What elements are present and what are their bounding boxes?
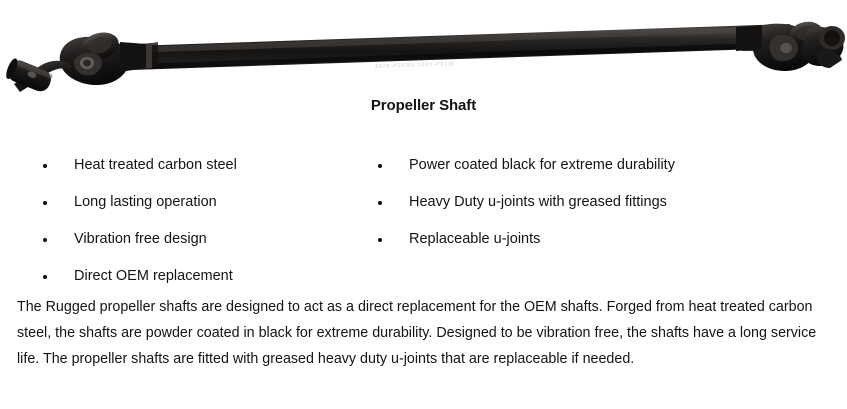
left-u-joint bbox=[4, 28, 146, 94]
feature-label: Long lasting operation bbox=[38, 184, 217, 221]
list-item: Heat treated carbon steel bbox=[38, 147, 378, 184]
list-item: Long lasting operation bbox=[38, 184, 378, 221]
bullet-icon bbox=[43, 201, 47, 205]
bullet-icon bbox=[378, 201, 382, 205]
propeller-shaft-illustration: 4378-PSPRS-100X-P01/B bbox=[0, 0, 847, 100]
svg-text:4378-PSPRS-100X-P01/B: 4378-PSPRS-100X-P01/B bbox=[375, 61, 455, 70]
feature-column-right: Power coated black for extreme durabilit… bbox=[373, 147, 823, 258]
page-title: Propeller Shaft bbox=[0, 97, 847, 114]
bullet-icon bbox=[43, 238, 47, 242]
bullet-icon bbox=[43, 164, 47, 168]
bullet-icon bbox=[43, 275, 47, 279]
list-item: Vibration free design bbox=[38, 221, 378, 258]
right-u-joint bbox=[736, 19, 845, 71]
bullet-icon bbox=[378, 238, 382, 242]
feature-column-left: Heat treated carbon steel Long lasting o… bbox=[38, 147, 378, 295]
list-item: Direct OEM replacement bbox=[38, 258, 378, 295]
feature-label: Heavy Duty u-joints with greased fitting… bbox=[373, 184, 667, 221]
product-image: 4378-PSPRS-100X-P01/B bbox=[0, 0, 847, 100]
feature-label: Vibration free design bbox=[38, 221, 207, 258]
feature-list: Heat treated carbon steel Long lasting o… bbox=[0, 147, 847, 292]
list-item: Heavy Duty u-joints with greased fitting… bbox=[373, 184, 823, 221]
list-item: Replaceable u-joints bbox=[373, 221, 823, 258]
shaft-imprint: 4378-PSPRS-100X-P01/B bbox=[375, 61, 455, 70]
feature-label: Replaceable u-joints bbox=[373, 221, 540, 258]
bullet-icon bbox=[378, 164, 382, 168]
list-item: Power coated black for extreme durabilit… bbox=[373, 147, 823, 184]
feature-label: Direct OEM replacement bbox=[38, 258, 233, 295]
feature-label: Power coated black for extreme durabilit… bbox=[373, 147, 675, 184]
product-description: The Rugged propeller shafts are designed… bbox=[17, 294, 829, 372]
feature-label: Heat treated carbon steel bbox=[38, 147, 237, 184]
